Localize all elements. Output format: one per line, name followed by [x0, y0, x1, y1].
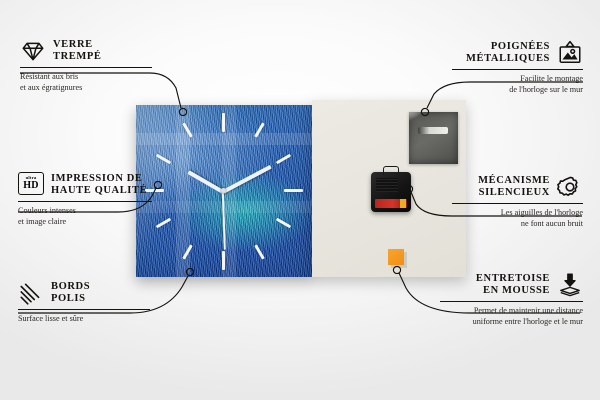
callout-rule [20, 67, 152, 68]
callout-header: VERRE TREMPÉ [20, 38, 152, 64]
infographic-canvas: VERRE TREMPÉ Résistant aux bris et aux é… [0, 0, 600, 400]
callout-header: ENTRETOISE EN MOUSSE [440, 272, 583, 298]
callout-title: POIGNÉES MÉTALLIQUES [466, 41, 550, 66]
print-band-horizontal [136, 133, 312, 145]
callout-mecanisme-silencieux: MÉCANISME SILENCIEUX Les aiguilles de l'… [452, 174, 583, 229]
clock-tick [156, 218, 171, 229]
clock-tick [254, 244, 265, 259]
callout-description: Résistant aux bris et aux égratignures [20, 72, 152, 94]
clock-tick [222, 251, 225, 270]
callout-impression-haute-qualite: ultra HD IMPRESSION DE HAUTE QUALITÉ Cou… [18, 172, 152, 227]
callout-title: BORDS POLIS [51, 281, 90, 306]
callout-rule [452, 203, 583, 204]
callout-title: IMPRESSION DE HAUTE QUALITÉ [51, 173, 147, 198]
callout-rule [18, 309, 150, 310]
metal-hanger-plate [409, 112, 458, 164]
ultra-hd-icon: ultra HD [18, 172, 44, 198]
battery-positive-terminal [400, 199, 406, 208]
diamond-icon [20, 38, 46, 64]
callout-bords-polis: BORDS POLIS Surface lisse et sûre [18, 280, 150, 325]
clock-tick [156, 154, 171, 165]
callout-header: POIGNÉES MÉTALLIQUES [452, 40, 583, 66]
movement-hanging-loop [383, 166, 399, 175]
battery [375, 199, 407, 208]
polished-edges-icon [18, 280, 44, 306]
arrow-down-layers-icon [557, 272, 583, 298]
callout-verre-trempe: VERRE TREMPÉ Résistant aux bris et aux é… [20, 38, 152, 93]
clock-center-pin [221, 188, 226, 193]
callout-rule [452, 69, 583, 70]
callout-title: ENTRETOISE EN MOUSSE [476, 273, 550, 298]
callout-description: Couleurs intenses et image claire [18, 206, 152, 228]
callout-description: Les aiguilles de l'horloge ne font aucun… [452, 208, 583, 230]
callout-title: VERRE TREMPÉ [53, 39, 102, 64]
clock-front-face [136, 105, 312, 277]
callout-poignees-metalliques: POIGNÉES MÉTALLIQUES Facilite le montage… [452, 40, 583, 95]
callout-entretoise-en-mousse: ENTRETOISE EN MOUSSE Permet de maintenir… [440, 272, 583, 327]
clock-tick [276, 218, 291, 229]
clock-movement-mechanism [371, 172, 411, 212]
picture-frame-hanging-icon [557, 40, 583, 66]
hanger-keyhole-slot [418, 127, 448, 134]
clock-hour-hand [187, 170, 224, 193]
callout-description: Permet de maintenir une distance uniform… [440, 306, 583, 328]
gear-icon [557, 174, 583, 200]
clock-tick [276, 154, 291, 165]
callout-header: BORDS POLIS [18, 280, 150, 306]
clock-tick [284, 189, 303, 192]
callout-title: MÉCANISME SILENCIEUX [478, 175, 550, 200]
clock-tick [222, 113, 225, 132]
movement-housing-detail [376, 178, 398, 192]
callout-rule [440, 301, 583, 302]
callout-header: ultra HD IMPRESSION DE HAUTE QUALITÉ [18, 172, 152, 198]
callout-header: MÉCANISME SILENCIEUX [452, 174, 583, 200]
callout-description: Surface lisse et sûre [18, 314, 150, 325]
foam-spacer-pad [388, 249, 404, 265]
callout-description: Facilite le montage de l'horloge sur le … [452, 74, 583, 96]
callout-rule [18, 201, 152, 202]
